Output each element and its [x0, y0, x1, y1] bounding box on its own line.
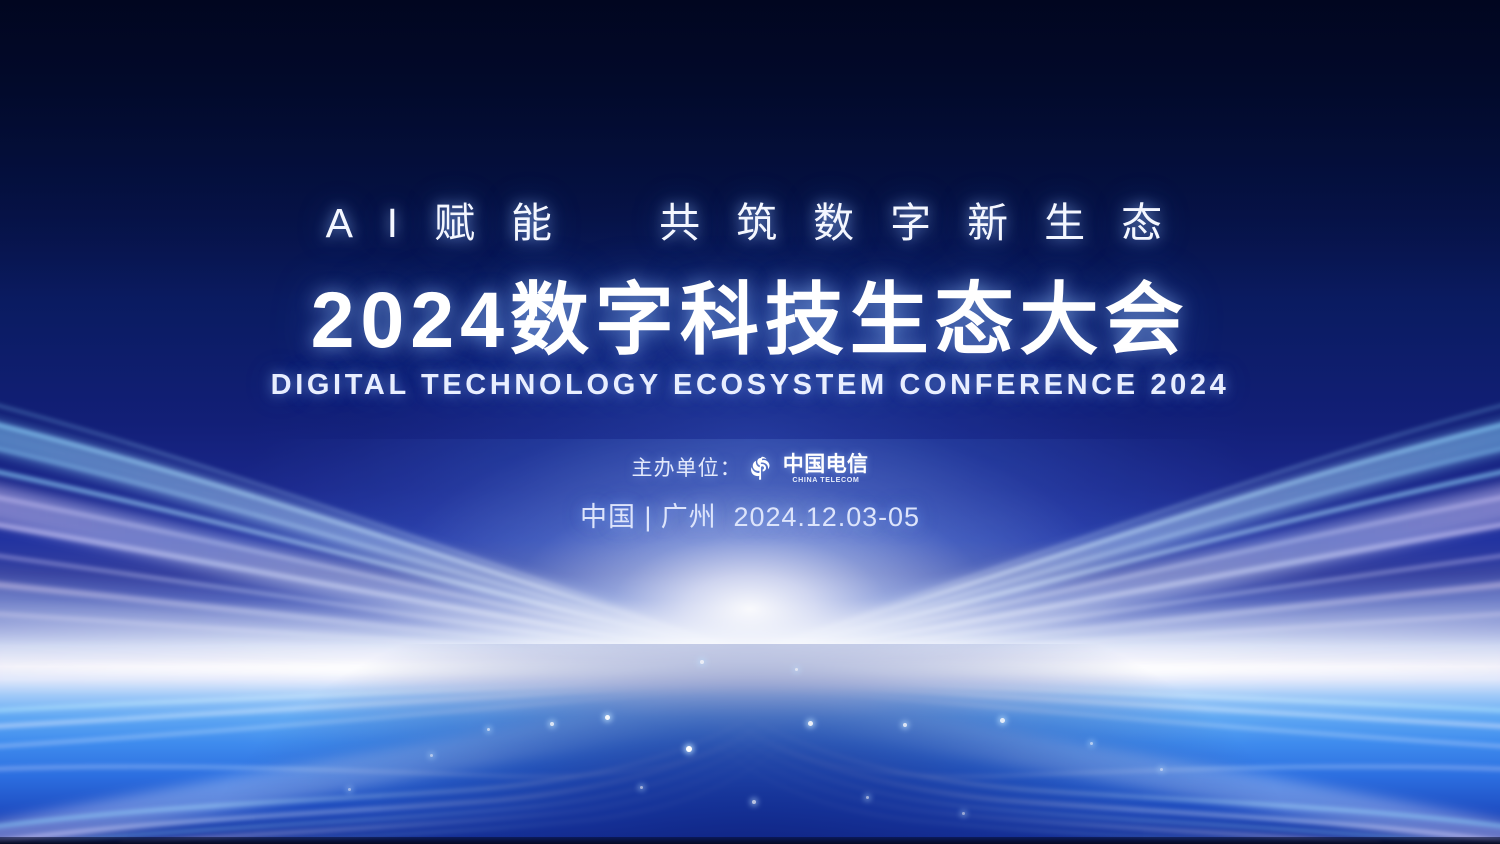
conference-poster: A I 赋 能 共 筑 数 字 新 生 态 2024数字科技生态大会 DIGIT…	[0, 0, 1500, 844]
poster-content: A I 赋 能 共 筑 数 字 新 生 态 2024数字科技生态大会 DIGIT…	[0, 0, 1500, 844]
organizer-label: 主办单位：	[632, 458, 742, 479]
organizer-row: 主办单位： 中国电信 CHINA TELECOM	[632, 452, 869, 486]
poster-title-english: DIGITAL TECHNOLOGY ECOSYSTEM CONFERENCE …	[271, 371, 1230, 400]
poster-tagline: A I 赋 能 共 筑 数 字 新 生 态	[326, 203, 1175, 244]
china-telecom-mark-icon	[746, 454, 776, 484]
poster-venue-date: 中国 | 广州 2024.12.03-05	[580, 504, 920, 531]
china-telecom-logo: 中国电信 CHINA TELECOM	[746, 454, 869, 484]
china-telecom-wordmark: 中国电信 CHINA TELECOM	[783, 454, 869, 484]
china-telecom-name-en: CHINA TELECOM	[792, 477, 859, 484]
china-telecom-name-cn: 中国电信	[783, 454, 869, 475]
poster-title-chinese: 2024数字科技生态大会	[311, 280, 1190, 361]
